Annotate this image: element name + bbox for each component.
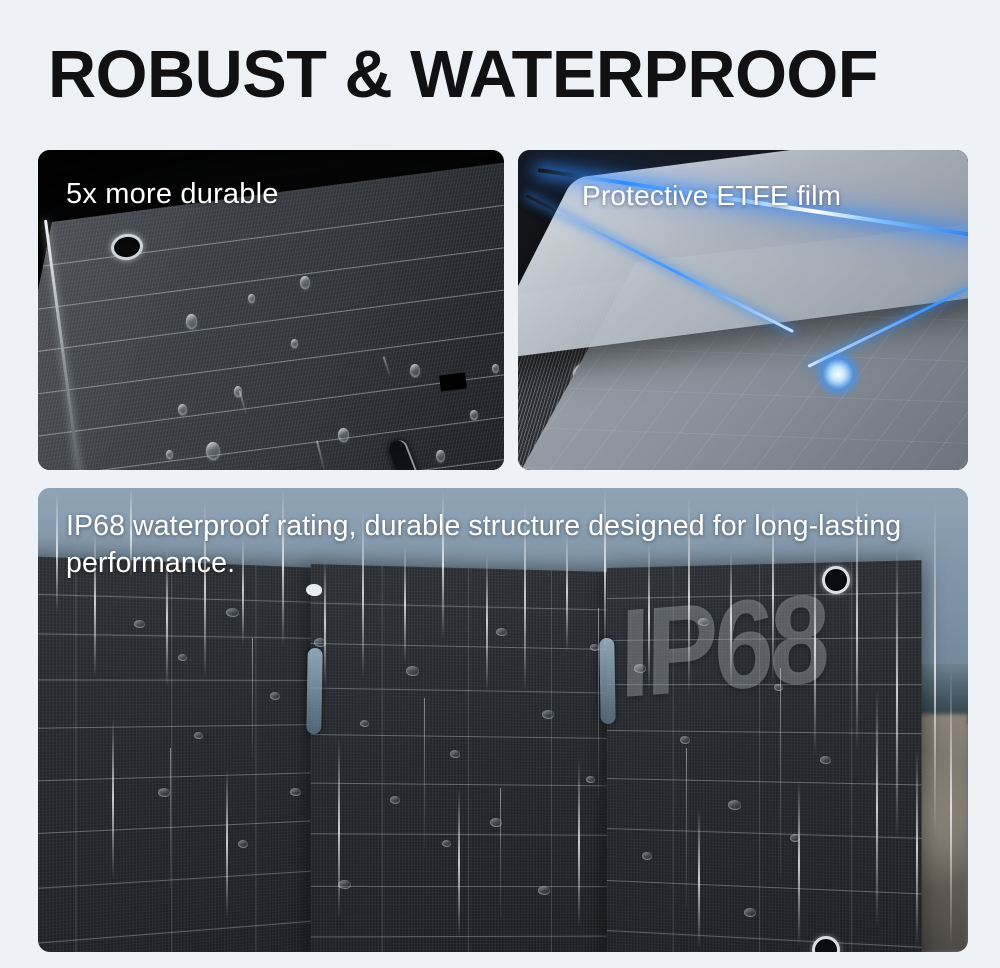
- panel-segment-2: [311, 564, 610, 952]
- panel-handle-slot: [599, 638, 615, 724]
- card-caption-etfe: Protective ETFE film: [582, 180, 841, 212]
- feature-card-etfe: Protective ETFE film: [518, 150, 968, 470]
- card-caption-durable: 5x more durable: [66, 178, 279, 211]
- panel-segment-1: [38, 555, 322, 952]
- panel-handle-slot: [306, 648, 322, 734]
- panel-segment-3: [607, 560, 921, 952]
- feature-card-durable: 5x more durable: [38, 150, 504, 470]
- panel-notch: [439, 372, 467, 391]
- light-flare-icon: [814, 350, 862, 398]
- page-title: ROBUST & WATERPROOF: [48, 34, 963, 116]
- product-feature-image: ROBUST & WATERPROOF: [0, 0, 1000, 968]
- folding-solar-panel: [38, 568, 872, 952]
- feature-card-ip68: IP68: [38, 488, 968, 952]
- card-caption-ip68: IP68 waterproof rating, durable structur…: [66, 508, 956, 582]
